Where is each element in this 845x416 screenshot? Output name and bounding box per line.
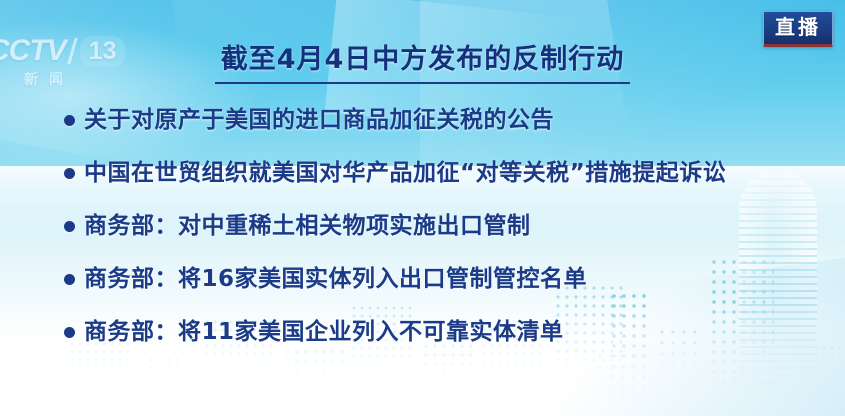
list-item: 中国在世贸组织就美国对华产品加征“对等关税”措施提起诉讼 [64,157,834,210]
live-badge-label: 直播 [775,15,821,39]
bullet-dot-icon [64,168,75,179]
list-item: 商务部：将11家美国企业列入不可靠实体清单 [64,316,834,369]
list-item-label: 商务部：对中重稀土相关物项实施出口管制 [84,210,531,242]
list-item-label: 商务部：将16家美国实体列入出口管制管控名单 [84,263,587,295]
live-badge: 直播 [763,11,833,47]
bullet-dot-icon [64,115,75,126]
broadcast-graphic-frame: CCTV 13 新闻 直播 截至4月4日中方发布的反制行动 关于对原产于美国的进… [0,0,845,416]
list-item-label: 中国在世贸组织就美国对华产品加征“对等关税”措施提起诉讼 [84,157,726,189]
list-item-label: 商务部：将11家美国企业列入不可靠实体清单 [84,316,564,348]
countermeasure-list: 关于对原产于美国的进口商品加征关税的公告 中国在世贸组织就美国对华产品加征“对等… [64,104,834,369]
page-title: 截至4月4日中方发布的反制行动 [215,44,631,84]
list-item: 关于对原产于美国的进口商品加征关税的公告 [64,104,834,157]
list-item: 商务部：将16家美国实体列入出口管制管控名单 [64,263,834,316]
bullet-dot-icon [64,274,75,285]
bullet-dot-icon [64,327,75,338]
list-item: 商务部：对中重稀土相关物项实施出口管制 [64,210,834,263]
headline-block: 截至4月4日中方发布的反制行动 [0,44,845,84]
bullet-dot-icon [64,221,75,232]
list-item-label: 关于对原产于美国的进口商品加征关税的公告 [84,104,554,136]
